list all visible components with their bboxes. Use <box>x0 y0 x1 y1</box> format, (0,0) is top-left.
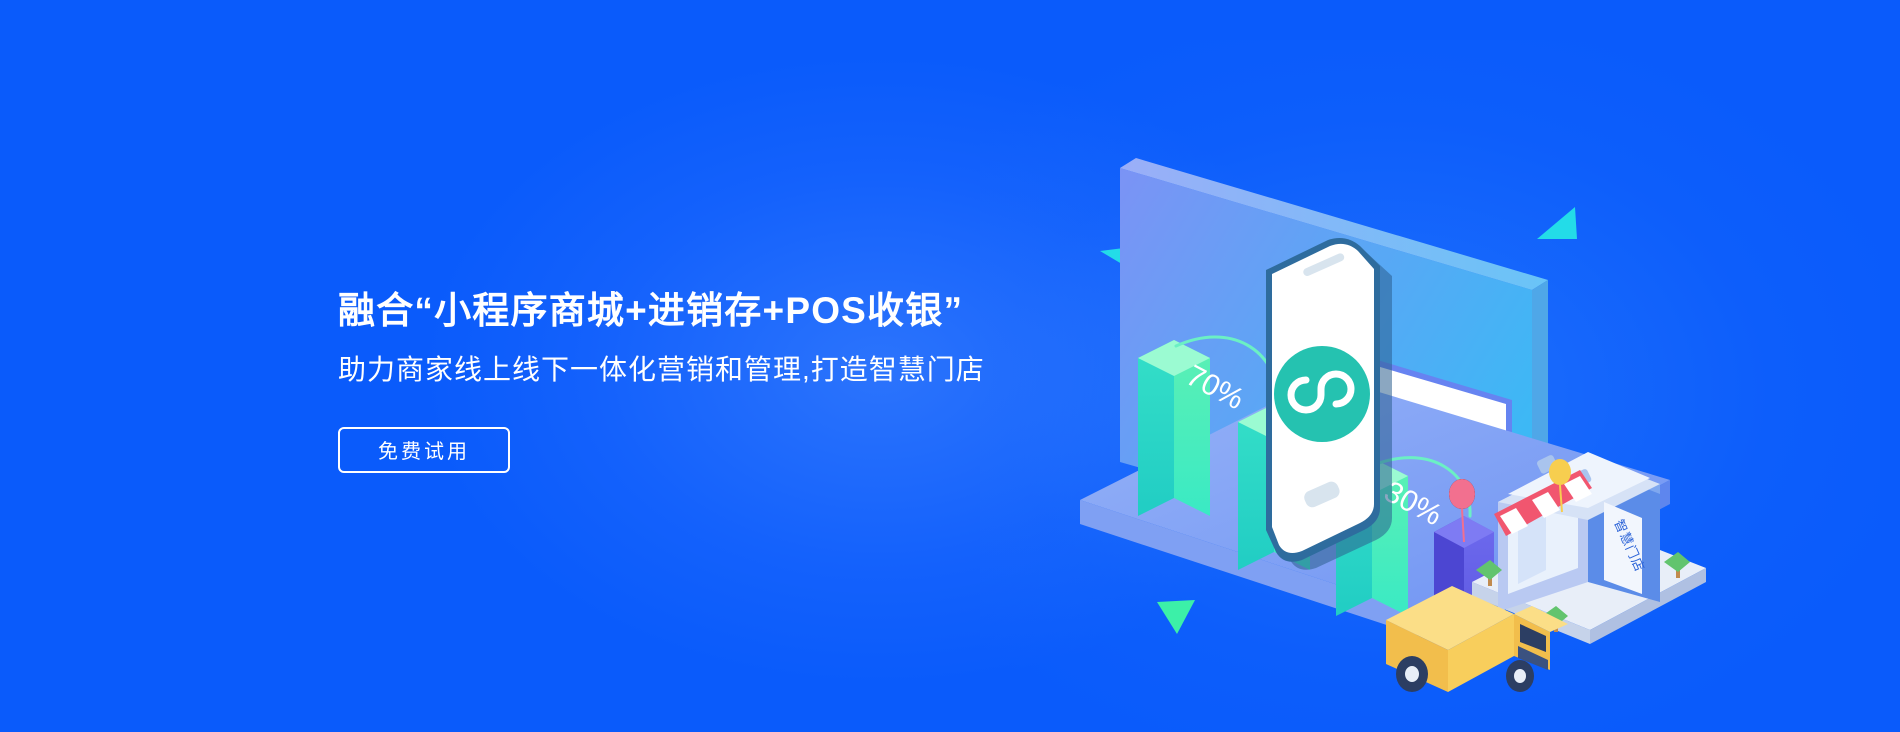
wechat-mini-program-icon <box>1274 346 1370 442</box>
free-trial-button[interactable]: 免费试用 <box>338 427 510 473</box>
smartphone <box>1266 238 1392 570</box>
hero-illustration: 70% 45% 30% <box>1080 150 1520 620</box>
hero-banner: 融合“小程序商城+进销存+POS收银” 助力商家线上线下一体化营销和管理,打造智… <box>0 0 1900 732</box>
page-subtitle: 助力商家线上线下一体化营销和管理,打造智慧门店 <box>338 352 1078 388</box>
page-title: 融合“小程序商城+进销存+POS收银” <box>338 288 1078 334</box>
hero-copy: 融合“小程序商城+进销存+POS收银” 助力商家线上线下一体化营销和管理,打造智… <box>338 288 1078 473</box>
